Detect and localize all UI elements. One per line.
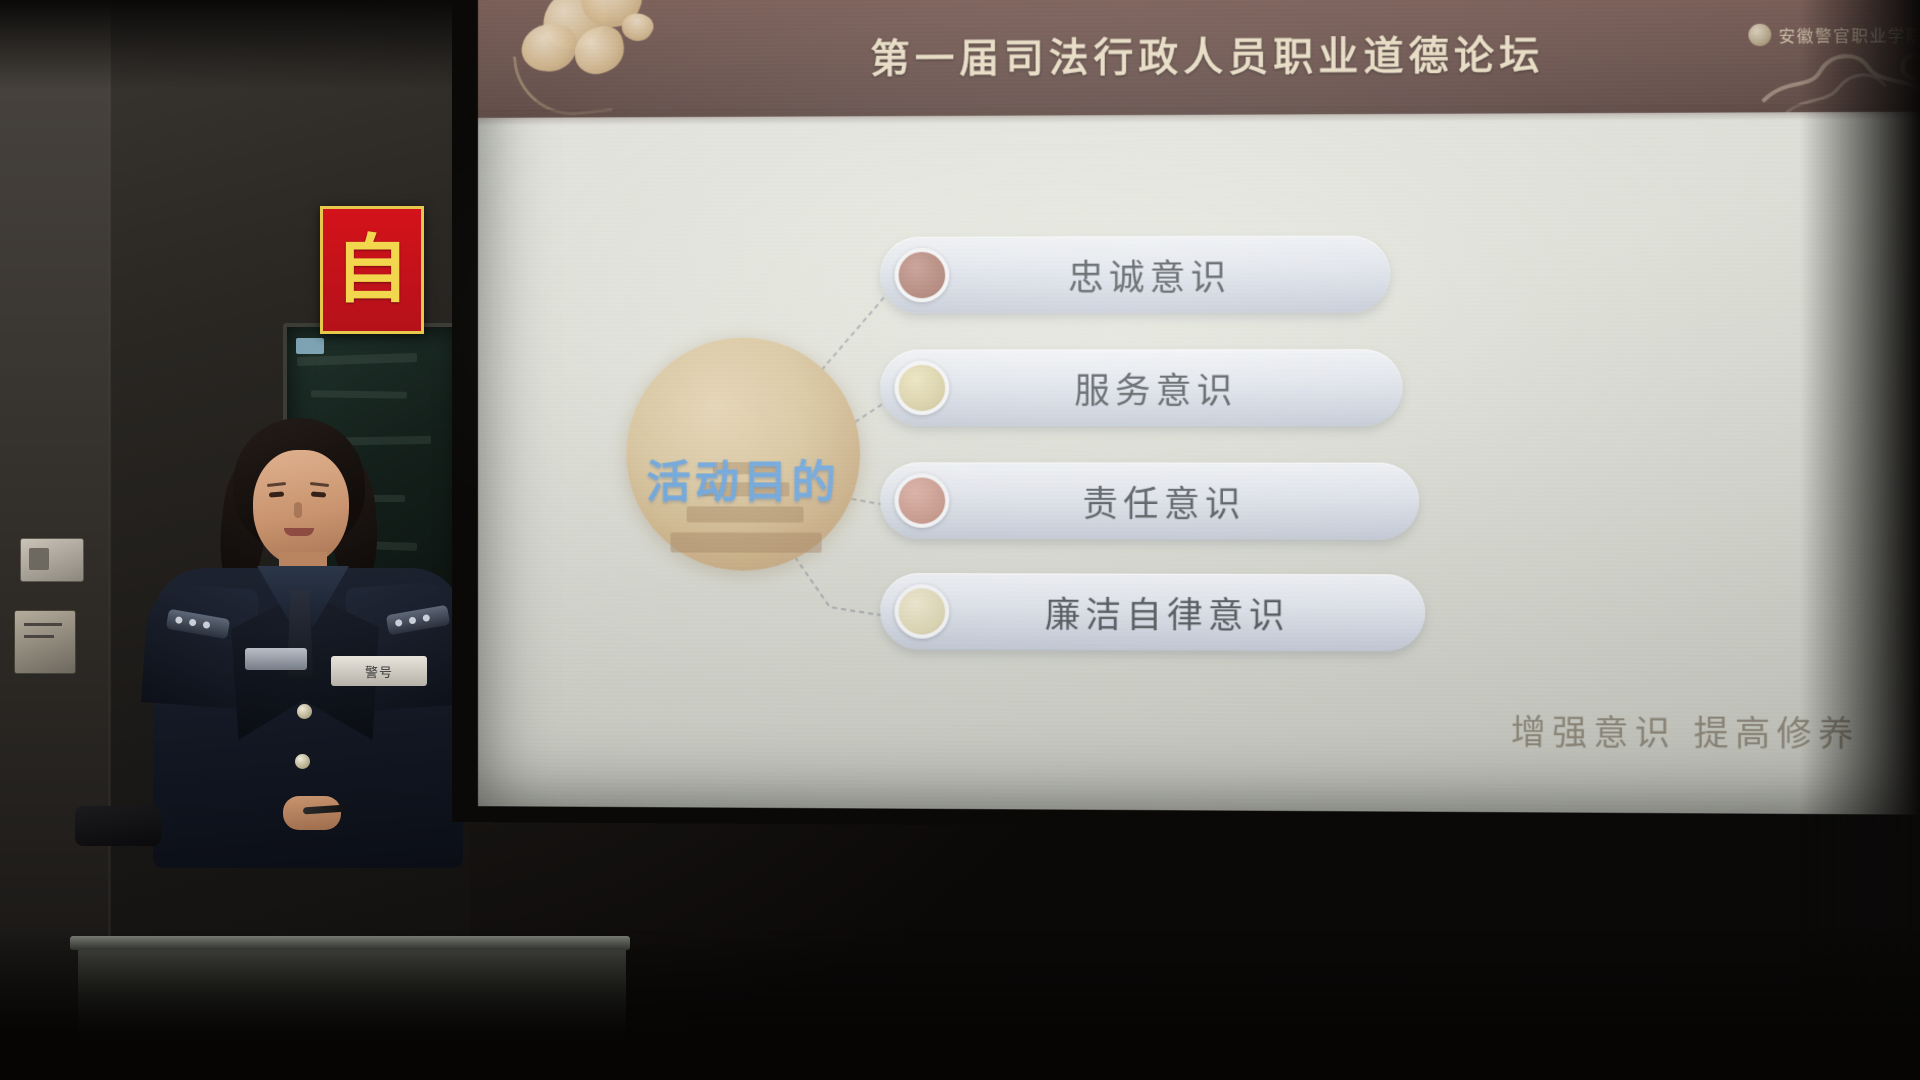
projection-screen-frame: 第一届司法行政人员职业道德论坛 安徽警官职业学院 bbox=[452, 0, 1920, 831]
slide-title: 第一届司法行政人员职业道德论坛 bbox=[478, 22, 1920, 86]
pill-dot-2 bbox=[895, 361, 950, 415]
pill-label-2: 服务意识 bbox=[880, 362, 1402, 414]
hub-label: 活动目的 bbox=[626, 446, 860, 511]
bullet-pill-2: 服务意识 bbox=[880, 349, 1402, 426]
wall-notice bbox=[14, 610, 76, 674]
pill-label-3: 责任意识 bbox=[880, 475, 1419, 527]
presentation-slide: 第一届司法行政人员职业道德论坛 安徽警官职业学院 bbox=[478, 0, 1920, 815]
wall-socket bbox=[20, 538, 84, 582]
right-shadow bbox=[1800, 0, 1920, 1080]
poster-character: 自 bbox=[335, 233, 409, 307]
pill-dot-1 bbox=[895, 248, 950, 302]
bullet-pill-1: 忠诚意识 bbox=[880, 236, 1390, 314]
uniform-nameplate: 警号 bbox=[331, 656, 427, 686]
uniform-nameplate-text: 警号 bbox=[365, 662, 393, 681]
ceiling-shadow bbox=[0, 0, 470, 90]
chalkboard-label bbox=[296, 338, 324, 354]
bullet-pill-3: 责任意识 bbox=[880, 462, 1419, 540]
floor-shadow bbox=[0, 930, 1920, 1080]
wall-seam bbox=[108, 0, 111, 1080]
podium-bag bbox=[75, 806, 161, 846]
slide-title-band: 第一届司法行政人员职业道德论坛 安徽警官职业学院 bbox=[478, 0, 1920, 118]
bullet-pill-4: 廉洁自律意识 bbox=[880, 573, 1425, 651]
uniform-chest-badge bbox=[245, 648, 307, 670]
pill-label-4: 廉洁自律意识 bbox=[880, 586, 1425, 639]
screenshot-root: 自 警号 bbox=[0, 0, 1920, 1080]
wall-poster: 自 bbox=[320, 206, 424, 334]
pill-dot-3 bbox=[895, 473, 950, 527]
pill-label-1: 忠诚意识 bbox=[880, 248, 1390, 301]
pill-dot-4 bbox=[895, 584, 950, 639]
presenter: 警号 bbox=[135, 418, 480, 858]
hub-circle: 活动目的 bbox=[626, 338, 860, 571]
